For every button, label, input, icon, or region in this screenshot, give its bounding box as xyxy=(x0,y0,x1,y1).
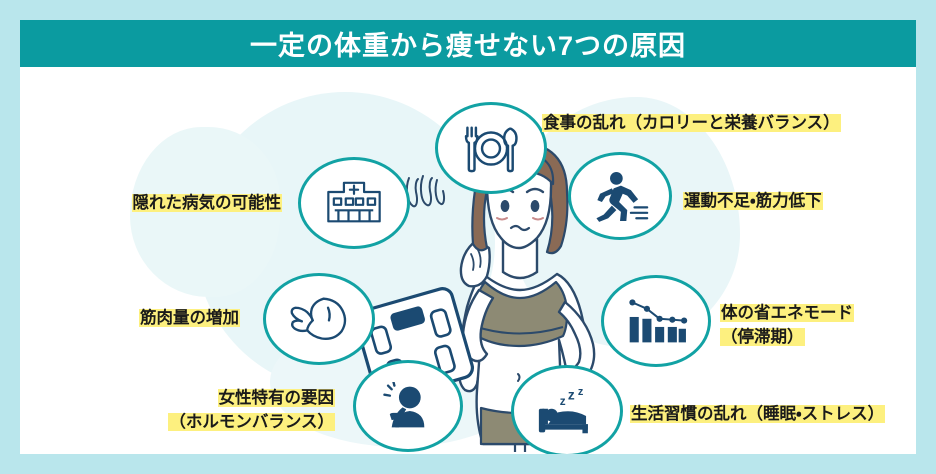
sleeping-person-bed-icon: z z z xyxy=(535,387,599,436)
flexed-bicep-icon xyxy=(287,296,351,343)
cause-label-hormone: 女性特有の要因 （ホルモンバランス） xyxy=(120,387,335,435)
cause-label-illness: 隠れた病気の可能性 xyxy=(40,192,282,214)
cause-node-lifestyle[interactable]: z z z xyxy=(511,365,623,454)
cause-label-muscle: 筋肉量の増加 xyxy=(60,307,240,329)
cause-label-lifestyle: 生活習慣の乱れ（睡眠・ストレス） xyxy=(630,403,885,425)
svg-text:z: z xyxy=(568,387,575,402)
svg-text:z: z xyxy=(560,395,566,408)
stressed-person-icon xyxy=(379,382,437,431)
infographic-frame: 一定の体重から痩せない7つの原因 xyxy=(0,0,936,474)
page-title: 一定の体重から痩せない7つの原因 xyxy=(250,24,686,63)
infographic-card: 一定の体重から痩せない7つの原因 xyxy=(20,20,916,454)
cause-node-illness[interactable] xyxy=(298,157,410,249)
cause-node-metabolism[interactable] xyxy=(601,275,711,367)
cause-node-diet[interactable] xyxy=(435,102,547,194)
running-person-icon xyxy=(591,171,649,222)
cause-node-exercise[interactable] xyxy=(568,152,672,240)
cause-label-metabolism: 体の省エネモード （停滞期） xyxy=(720,302,854,350)
cause-label-exercise: 運動不足・筋力低下 xyxy=(683,190,823,212)
declining-bar-chart-icon xyxy=(624,297,688,346)
diagram-stage: 食事の乱れ（カロリーと栄養バランス） 運動不足・筋力低下 xyxy=(20,67,916,454)
cause-node-hormone[interactable] xyxy=(353,360,463,452)
plate-fork-spoon-icon xyxy=(458,122,524,175)
hospital-building-icon xyxy=(321,179,387,227)
header-bar: 一定の体重から痩せない7つの原因 xyxy=(20,20,916,67)
svg-text:z: z xyxy=(578,387,584,398)
cause-node-muscle[interactable] xyxy=(263,273,375,365)
cause-label-diet: 食事の乱れ（カロリーと栄養バランス） xyxy=(542,112,841,134)
